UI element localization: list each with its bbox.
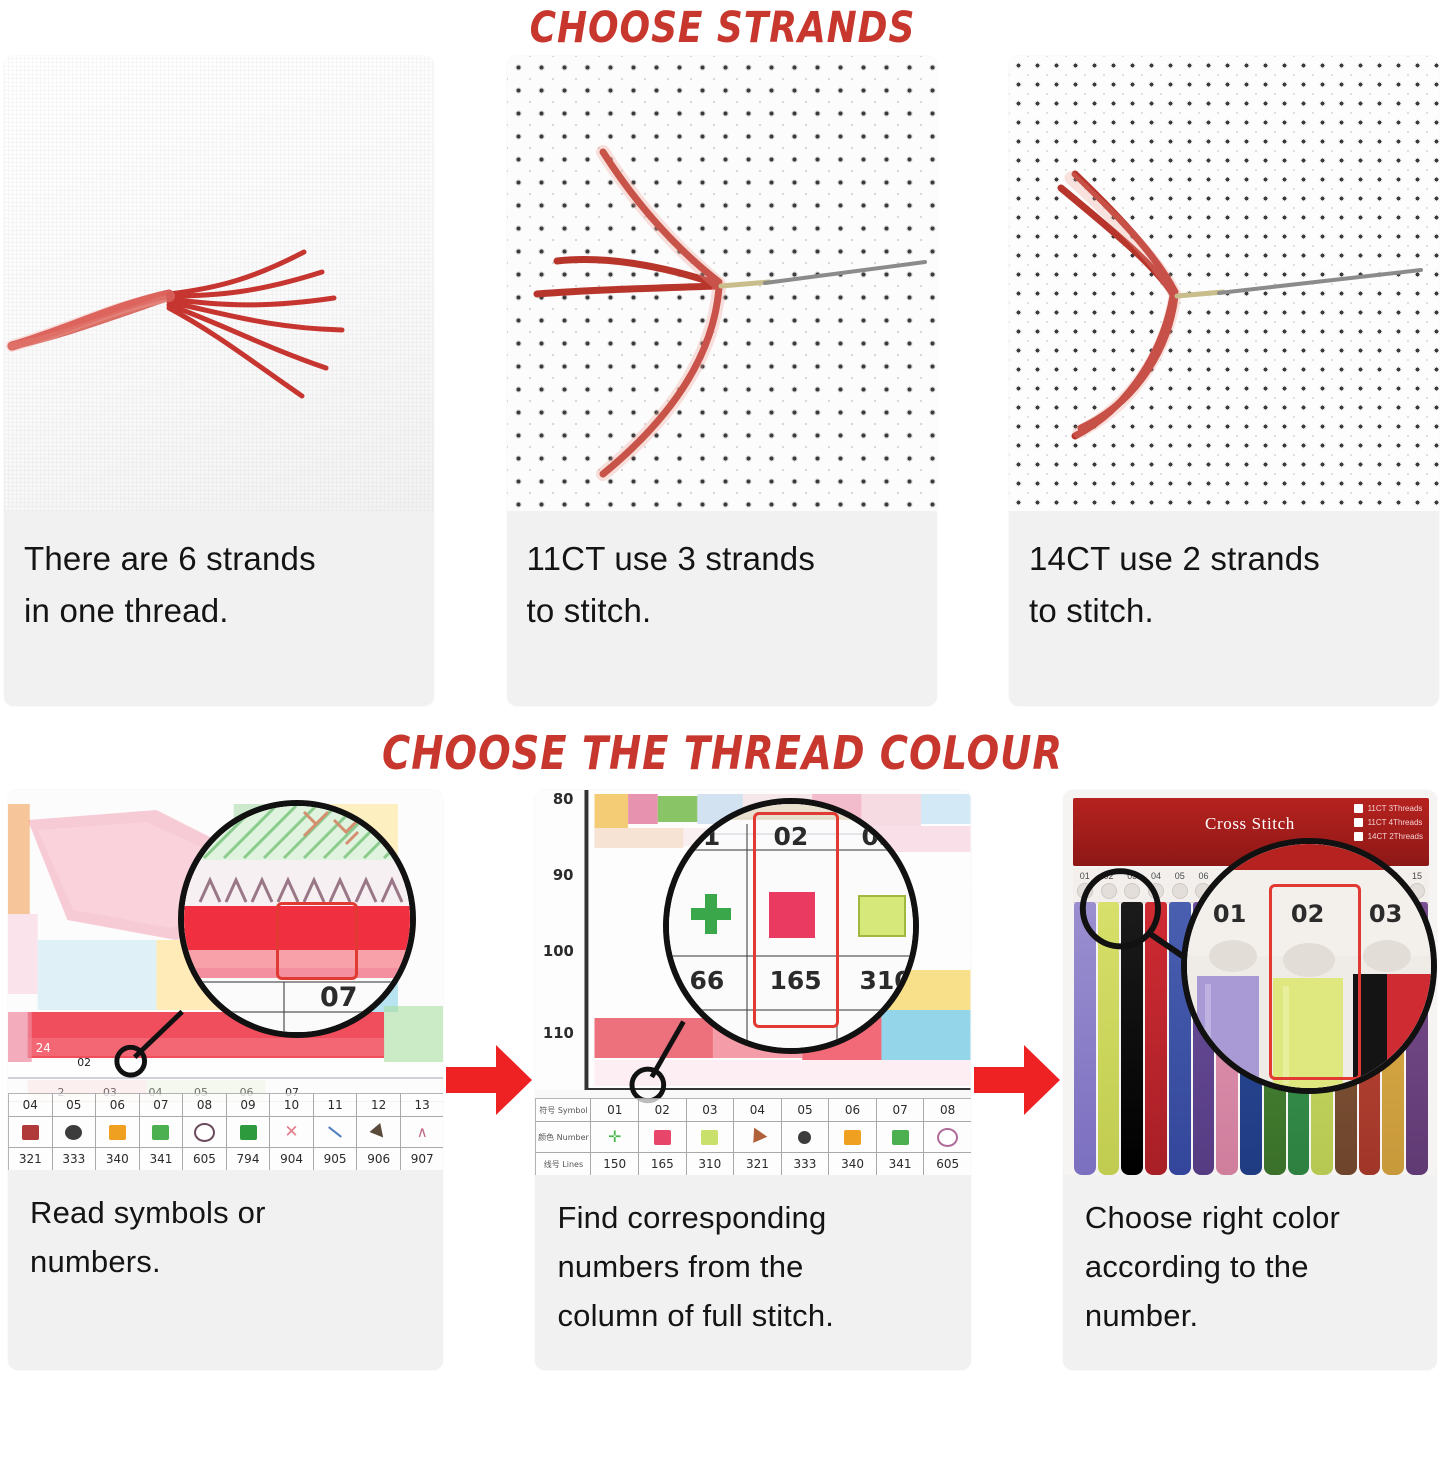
caption-six-strands: There are 6 strands in one thread. xyxy=(4,511,434,706)
caption-line-2: in one thread. xyxy=(24,585,414,637)
legend-number-cell: 907 xyxy=(400,1147,444,1170)
table-number-cell: 341 xyxy=(876,1152,925,1175)
legend-header-cell: 07 xyxy=(139,1093,184,1117)
table-header-cell: 05 xyxy=(781,1098,830,1122)
panel-11ct: 11CT use 3 strands to stitch. xyxy=(507,56,937,706)
panel-read-symbols: 203 0405 0607 24 02 xyxy=(8,790,443,1370)
symbol-swatch xyxy=(844,1130,861,1145)
photo-14ct-aida xyxy=(1009,56,1439,511)
table-symbol-cell xyxy=(781,1121,830,1153)
symbol-swatch xyxy=(654,1130,671,1145)
symbol-glyph-wedge xyxy=(747,1127,768,1147)
thread-card-photo: Cross Stitch 11CT 3Threads 11CT 4Threads… xyxy=(1063,790,1437,1175)
photo-11ct-aida xyxy=(507,56,937,511)
legend-number-cell: 340 xyxy=(95,1147,140,1170)
table-symbol-row: 颜色 Number ✛ xyxy=(535,1121,970,1152)
symbol-glyph-slash xyxy=(328,1126,342,1137)
caption-line-1: 11CT use 3 strands xyxy=(527,533,917,585)
legend-symbol-cell xyxy=(52,1116,97,1148)
panel-six-strands: There are 6 strands in one thread. xyxy=(4,56,434,706)
symbol-swatch xyxy=(892,1130,909,1145)
caption-line-1: Choose right color xyxy=(1085,1193,1421,1242)
right-arrow-icon xyxy=(974,1045,1060,1115)
six-strands-illustration xyxy=(4,56,434,511)
legend-number-cell: 904 xyxy=(269,1147,314,1170)
table-number-cell: 605 xyxy=(923,1152,971,1175)
table-number-cell: 340 xyxy=(828,1152,877,1175)
symbol-swatch xyxy=(22,1125,39,1140)
table-number-row: 线号 Lines 150 165 310 321 333 340 341 605 xyxy=(535,1152,970,1175)
legend-header-cell: 10 xyxy=(269,1093,314,1117)
magnifier-pointer xyxy=(1063,790,1437,1175)
panel-choose-color: Cross Stitch 11CT 3Threads 11CT 4Threads… xyxy=(1063,790,1437,1370)
legend-number-cell: 341 xyxy=(139,1147,184,1170)
symbol-swatch xyxy=(798,1131,811,1144)
symbol-swatch xyxy=(194,1123,215,1142)
table-number-cell: 165 xyxy=(638,1152,687,1175)
legend-symbol-cell xyxy=(95,1116,140,1148)
table-symbol-cell xyxy=(733,1121,782,1153)
three-strands-needle-illustration xyxy=(507,56,937,511)
table-header-cell: 01 xyxy=(590,1098,639,1122)
legend-symbol-cell: ∧ xyxy=(400,1116,444,1148)
legend-header-cell: 05 xyxy=(52,1093,97,1117)
caption-choose-color: Choose right color according to the numb… xyxy=(1063,1175,1437,1370)
legend-number-cell: 321 xyxy=(8,1147,53,1170)
legend-symbol-cell xyxy=(356,1116,401,1148)
legend-symbol-cell xyxy=(8,1116,53,1148)
caption-line-2: to stitch. xyxy=(1029,585,1419,637)
caption-line-1: There are 6 strands xyxy=(24,533,414,585)
symbol-swatch xyxy=(65,1125,82,1140)
symbol-glyph-caret: ∧ xyxy=(417,1125,428,1139)
panel-14ct: 14CT use 2 strands to stitch. xyxy=(1009,56,1439,706)
caption-11ct: 11CT use 3 strands to stitch. xyxy=(507,511,937,706)
arrow-step-1-to-2 xyxy=(443,790,535,1370)
legend-number-row: 321 333 340 341 605 794 904 905 906 907 xyxy=(8,1147,443,1170)
caption-line-1: Read symbols or xyxy=(30,1188,427,1237)
legend-number-cell: 906 xyxy=(356,1147,401,1170)
table-header-cell: 04 xyxy=(733,1098,782,1122)
table-number-cell: 150 xyxy=(590,1152,639,1175)
legend-symbol-cell xyxy=(182,1116,227,1148)
table-header-cell: 07 xyxy=(876,1098,925,1122)
symbol-swatch xyxy=(937,1128,958,1147)
legend-number-cell: 794 xyxy=(226,1147,271,1170)
legend-number-cell: 333 xyxy=(52,1147,97,1170)
table-header-cell: 08 xyxy=(923,1098,971,1122)
symbol-legend-table: 04 05 06 07 08 09 10 11 12 13 xyxy=(8,1093,443,1170)
table-header-row: 符号 Symbol 01 02 03 04 05 06 07 08 xyxy=(535,1098,970,1121)
table-symbol-cell xyxy=(876,1121,925,1153)
symbol-swatch xyxy=(109,1125,126,1140)
page-title-choose-strands: CHOOSE STRANDS xyxy=(51,0,1395,56)
table-symbol-cell: ✛ xyxy=(590,1121,639,1153)
legend-symbol-cell xyxy=(139,1116,184,1148)
table-row-label: 颜色 Number xyxy=(535,1121,591,1153)
caption-line-1: Find corresponding xyxy=(557,1193,954,1242)
photo-six-strands xyxy=(4,56,434,511)
caption-find-numbers: Find corresponding numbers from the colu… xyxy=(535,1175,970,1370)
legend-header-cell: 11 xyxy=(313,1093,358,1117)
legend-number-cell: 905 xyxy=(313,1147,358,1170)
symbol-glyph-wedge xyxy=(369,1123,388,1142)
caption-read-symbols: Read symbols or numbers. xyxy=(8,1170,443,1370)
pattern-chart-numbers: 80 90 100 110 xyxy=(535,790,970,1175)
legend-header-cell: 09 xyxy=(226,1093,271,1117)
symbol-glyph-plus: ✛ xyxy=(608,1130,621,1144)
two-strands-needle-illustration xyxy=(1009,56,1439,511)
caption-line-2: according to the xyxy=(1085,1242,1421,1291)
table-symbol-cell xyxy=(638,1121,687,1153)
arrow-step-2-to-3 xyxy=(971,790,1063,1370)
legend-symbol-cell: ✕ xyxy=(269,1116,314,1148)
legend-symbol-row: ✕ ∧ xyxy=(8,1116,443,1147)
table-number-cell: 310 xyxy=(686,1152,735,1175)
caption-line-1: 14CT use 2 strands xyxy=(1029,533,1419,585)
table-symbol-cell xyxy=(686,1121,735,1153)
table-number-cell: 321 xyxy=(733,1152,782,1175)
table-header-cell: 06 xyxy=(828,1098,877,1122)
table-symbol-cell xyxy=(828,1121,877,1153)
page-title-choose-thread-colour: CHOOSE THE THREAD COLOUR xyxy=(51,716,1395,790)
symbol-swatch xyxy=(701,1130,718,1145)
legend-symbol-cell xyxy=(226,1116,271,1148)
caption-line-2: to stitch. xyxy=(527,585,917,637)
symbol-swatch xyxy=(152,1125,169,1140)
legend-symbol-cell xyxy=(313,1116,358,1148)
caption-line-2: numbers from the xyxy=(557,1242,954,1291)
legend-header-cell: 06 xyxy=(95,1093,140,1117)
caption-line-3: column of full stitch. xyxy=(557,1291,954,1340)
right-arrow-icon xyxy=(446,1045,532,1115)
colour-panel-row: 203 0405 0607 24 02 xyxy=(0,790,1445,1390)
symbol-glyph-x: ✕ xyxy=(284,1125,298,1140)
table-row-label: 线号 Lines xyxy=(535,1152,591,1175)
table-symbol-cell xyxy=(923,1121,971,1153)
table-header-cell: 03 xyxy=(686,1098,735,1122)
legend-header-row: 04 05 06 07 08 09 10 11 12 13 xyxy=(8,1093,443,1116)
pattern-chart-symbols: 203 0405 0607 24 02 xyxy=(8,790,443,1170)
table-number-cell: 333 xyxy=(781,1152,830,1175)
table-header-cell: 02 xyxy=(638,1098,687,1122)
caption-line-3: number. xyxy=(1085,1291,1421,1340)
legend-header-cell: 08 xyxy=(182,1093,227,1117)
legend-header-cell: 13 xyxy=(400,1093,444,1117)
strands-panel-row: There are 6 strands in one thread. xyxy=(0,56,1445,716)
legend-number-cell: 605 xyxy=(182,1147,227,1170)
symbol-swatch xyxy=(240,1125,257,1140)
thread-number-table: 符号 Symbol 01 02 03 04 05 06 07 08 颜色 Num… xyxy=(535,1098,970,1175)
caption-line-2: numbers. xyxy=(30,1237,427,1286)
legend-header-cell: 12 xyxy=(356,1093,401,1117)
table-row-label: 符号 Symbol xyxy=(535,1098,591,1122)
caption-14ct: 14CT use 2 strands to stitch. xyxy=(1009,511,1439,706)
legend-header-cell: 04 xyxy=(8,1093,53,1117)
panel-find-numbers: 80 90 100 110 xyxy=(535,790,970,1370)
